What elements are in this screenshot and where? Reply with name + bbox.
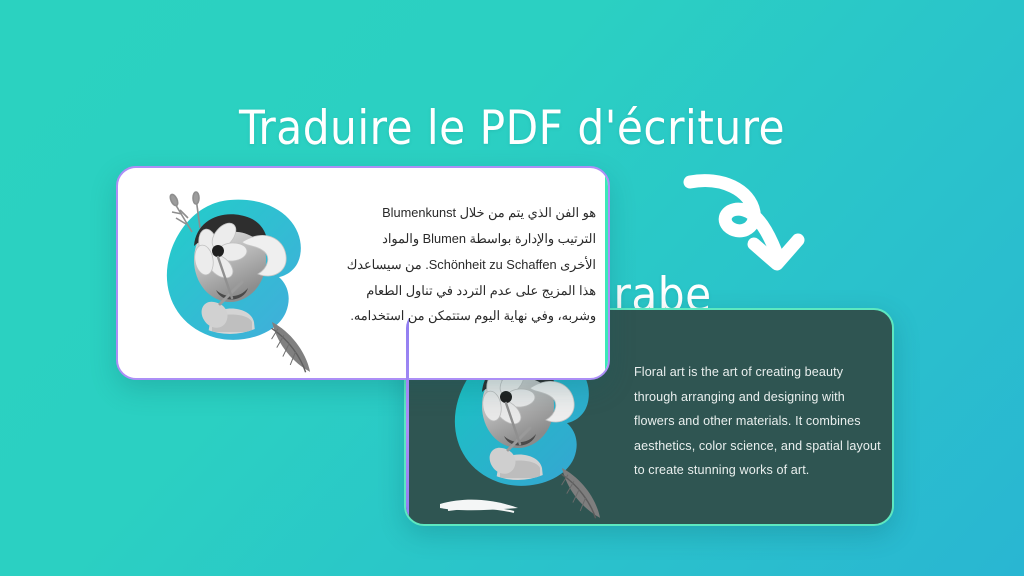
translated-document-card[interactable]: F L O R A L A R T هو الفن الذي يتم من خل… (116, 166, 610, 380)
translated-document-body: هو الفن الذي يتم من خلال Blumenkunst الت… (346, 200, 596, 329)
page-title-line-1: Traduire le PDF d'écriture (239, 101, 785, 156)
promo-banner: Traduire le PDF d'écriture anglais vers … (0, 0, 1024, 576)
brand-ring-text-light: F L O R A L A R T (134, 170, 349, 380)
curly-arrow-icon (676, 160, 816, 290)
source-document-body: Floral art is the art of creating beauty… (634, 360, 882, 483)
floral-art-illustration-light: F L O R A L A R T (134, 170, 349, 380)
